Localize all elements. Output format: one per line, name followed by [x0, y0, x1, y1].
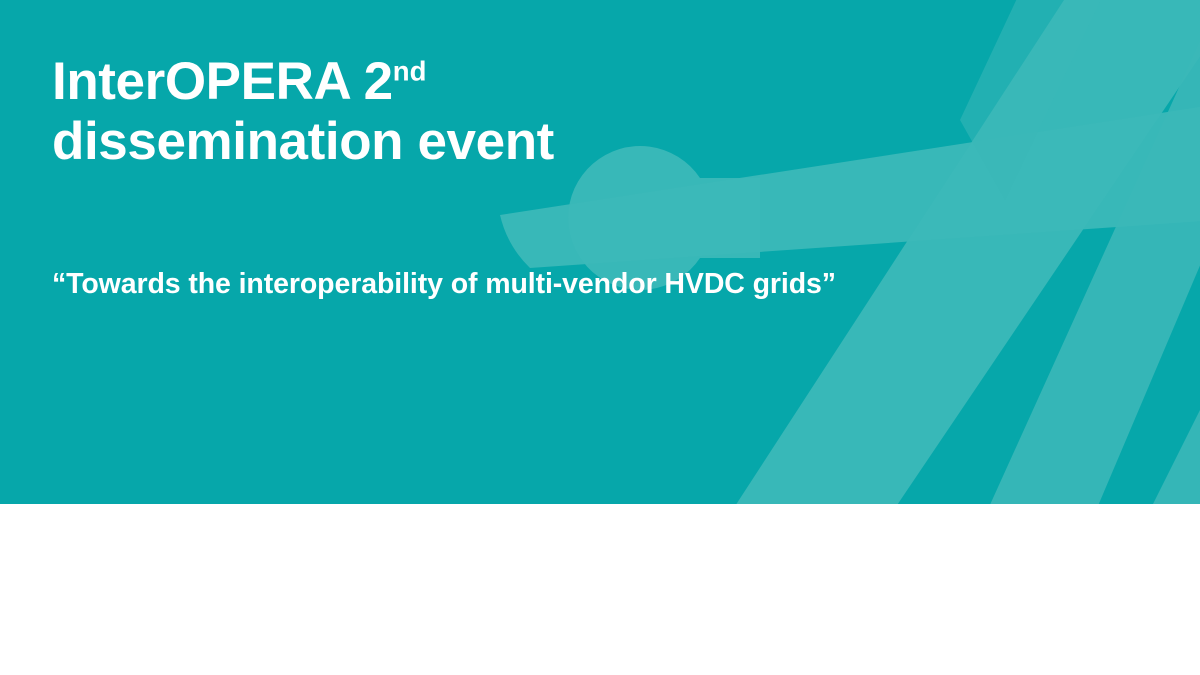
hero-text-block: InterOPERA 2nddissemination event “Towar…: [0, 0, 1200, 504]
title-ordinal-suffix: nd: [393, 55, 427, 86]
title-main: InterOPERA 2: [52, 52, 393, 111]
slide-subtitle: “Towards the interoperability of multi-v…: [52, 268, 1112, 301]
title-line-two: dissemination event: [52, 112, 554, 171]
page-title: InterOPERA 2nddissemination event: [52, 52, 772, 173]
slide-footer: Inter OPERA Enabling multi-vendor HVDC g…: [0, 504, 1200, 675]
presentation-slide: InterOPERA 2nddissemination event “Towar…: [0, 0, 1200, 675]
hero-banner: InterOPERA 2nddissemination event “Towar…: [0, 0, 1200, 504]
